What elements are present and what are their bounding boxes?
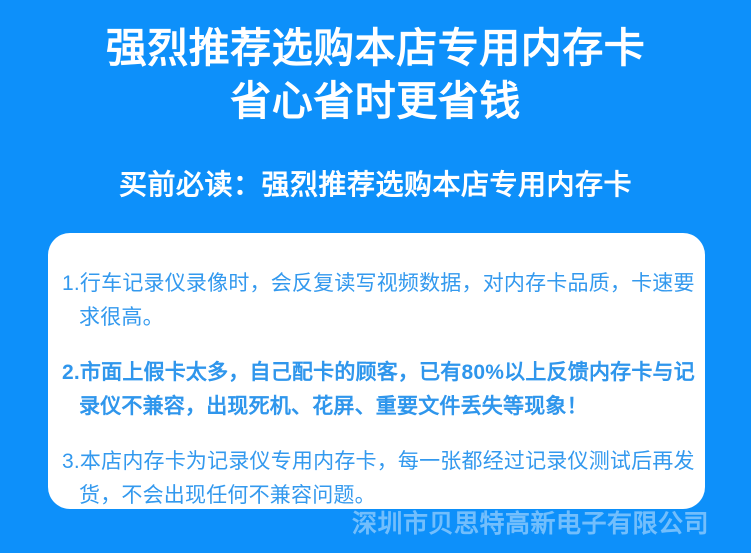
info-card-content: 1.行车记录仪录像时，会反复读写视频数据，对内存卡品质，卡速要求很高。 2.市面… <box>62 246 695 509</box>
list-item: 1.行车记录仪录像时，会反复读写视频数据，对内存卡品质，卡速要求很高。 <box>62 267 695 335</box>
list-item: 3.本店内存卡为记录仪专用内存卡，每一张都经过记录仪测试后再发货，不会出现任何不… <box>62 445 695 509</box>
info-card: 1.行车记录仪录像时，会反复读写视频数据，对内存卡品质，卡速要求很高。 2.市面… <box>48 233 705 509</box>
headline-block: 强烈推荐选购本店专用内存卡 省心省时更省钱 <box>0 22 751 128</box>
promo-banner: 强烈推荐选购本店专用内存卡 省心省时更省钱 买前必读：强烈推荐选购本店专用内存卡… <box>0 0 751 553</box>
list-item: 2.市面上假卡太多，自己配卡的顾客，已有80%以上反馈内存卡与记录仪不兼容，出现… <box>62 356 695 424</box>
subtitle: 买前必读：强烈推荐选购本店专用内存卡 <box>0 166 751 204</box>
company-watermark: 深圳市贝思特高新电子有限公司 <box>352 509 712 539</box>
headline-line-1: 强烈推荐选购本店专用内存卡 <box>0 22 751 75</box>
headline-line-2: 省心省时更省钱 <box>0 75 751 128</box>
